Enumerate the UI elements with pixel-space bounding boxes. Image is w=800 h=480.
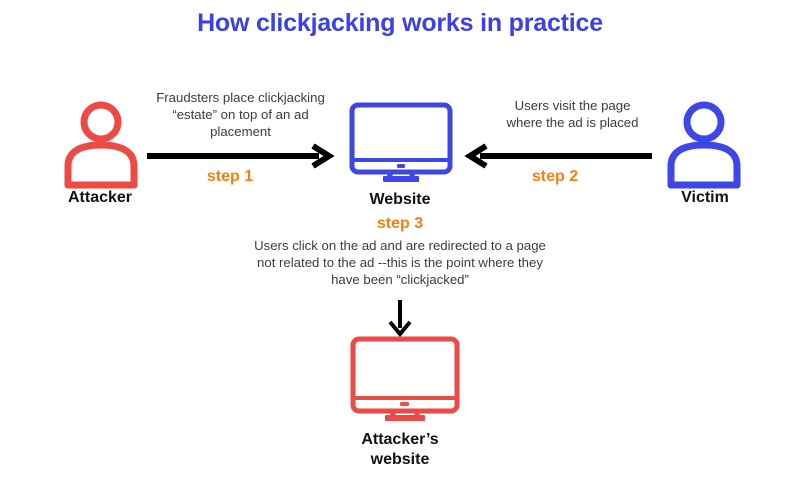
attacker-website-label: Attacker’s website: [330, 430, 470, 469]
victim-person-icon: [665, 100, 743, 185]
step2-label: step 2: [495, 167, 615, 186]
arrow-right-icon: [145, 144, 335, 168]
arrow-down-icon: [383, 298, 417, 336]
step1-caption-line-1: Fraudsters place clickjacking: [133, 90, 348, 107]
step1-caption-line-3: placement: [133, 124, 348, 141]
step2-caption: Users visit the page where the ad is pla…: [480, 98, 665, 132]
attacker-person-icon: [62, 100, 140, 185]
attacker-website-label-line-2: website: [330, 450, 470, 470]
website-monitor-icon: [345, 100, 457, 182]
diagram-canvas: How clickjacking works in practice Attac…: [0, 0, 800, 480]
page-title: How clickjacking works in practice: [180, 8, 620, 39]
step3-label: step 3: [340, 214, 460, 233]
step3-caption: Users click on the ad and are redirected…: [205, 238, 595, 288]
step3-caption-line-3: have been “clickjacked”: [205, 272, 595, 289]
step1-label: step 1: [170, 167, 290, 186]
attacker-website-monitor-icon: [345, 334, 465, 422]
arrow-left-icon: [462, 144, 654, 168]
website-label: Website: [340, 190, 460, 210]
step1-caption: Fraudsters place clickjacking “estate” o…: [133, 90, 348, 140]
step2-caption-line-2: where the ad is placed: [480, 115, 665, 132]
step1-caption-line-2: “estate” on top of an ad: [133, 107, 348, 124]
victim-label: Victim: [645, 188, 765, 208]
step3-caption-line-2: not related to the ad --this is the poin…: [205, 255, 595, 272]
step3-caption-line-1: Users click on the ad and are redirected…: [205, 238, 595, 255]
attacker-label: Attacker: [40, 188, 160, 208]
attacker-website-label-line-1: Attacker’s: [330, 430, 470, 450]
step2-caption-line-1: Users visit the page: [480, 98, 665, 115]
